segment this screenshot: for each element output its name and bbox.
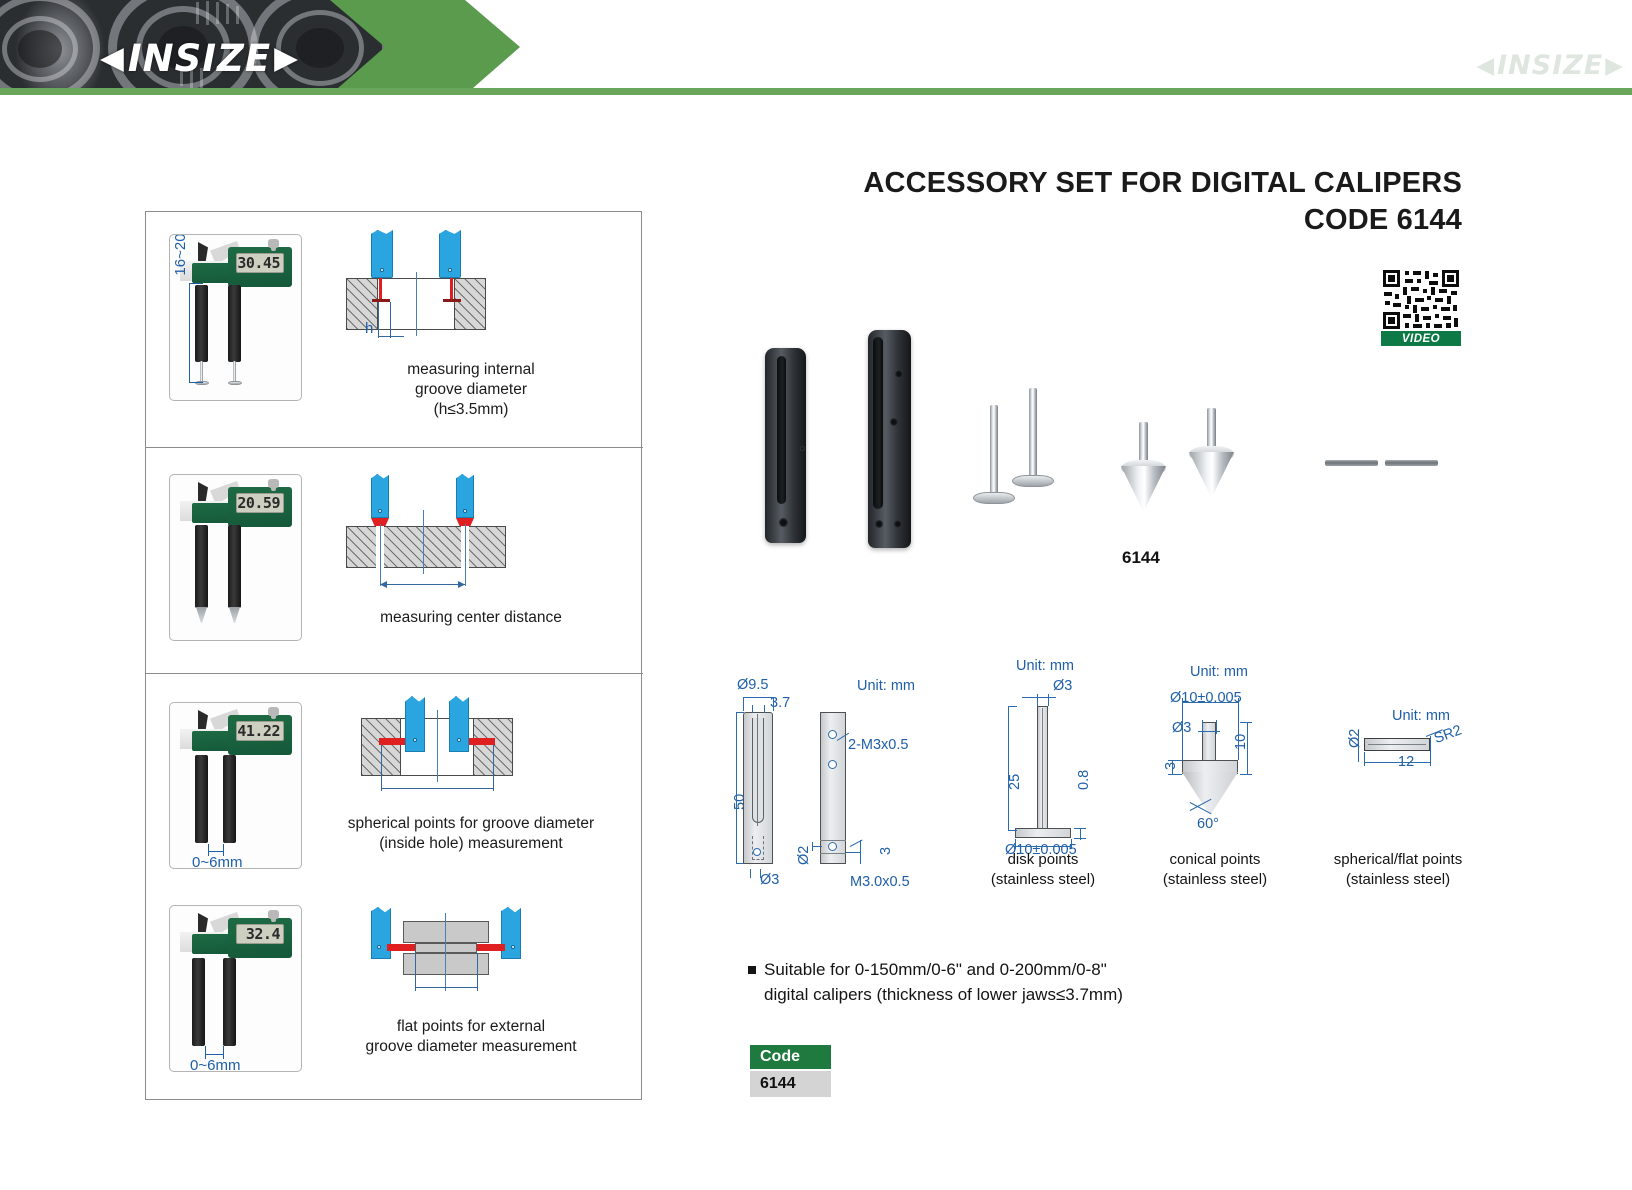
application-row-2: 20.59 measuring center distance xyxy=(146,448,643,673)
extension-bar-long xyxy=(868,330,911,548)
lcd-display-1: 30.45 xyxy=(236,253,284,273)
application-row-1: 30.45 16~20mm xyxy=(146,212,643,447)
disk-unit-label: Unit: mm xyxy=(1016,658,1074,674)
conical-caption-line1: conical points xyxy=(1152,850,1278,870)
bullet-square-icon xyxy=(748,966,756,974)
disk-shaft-dia: Ø3 xyxy=(1053,678,1072,694)
spherical-caption-line2: (stainless steel) xyxy=(1328,870,1468,890)
ext-unit-label: Unit: mm xyxy=(857,678,915,694)
ext-outer-dia: Ø9.5 xyxy=(737,677,768,693)
application-row-3: 41.22 0~6mm spherical points for groove xyxy=(146,674,643,889)
features-list: Suitable for 0-150mm/0-6" and 0-200mm/0-… xyxy=(748,958,1268,1007)
header-white-area xyxy=(520,0,1632,88)
spherical-caption-line1: spherical/flat points xyxy=(1328,850,1468,870)
caption-2: measuring center distance xyxy=(331,608,611,628)
disk-caption-line1: disk points xyxy=(982,850,1104,870)
insize-watermark-logo: ◀INSIZE▶ xyxy=(1476,50,1624,81)
code-table-header: Code xyxy=(750,1045,831,1069)
code-table-value: 6144 xyxy=(750,1071,831,1097)
feature-item: Suitable for 0-150mm/0-6" and 0-200mm/0-… xyxy=(748,958,1268,1007)
ext-bore-dia: Ø3 xyxy=(760,872,779,888)
technical-drawings: Unit: mm Ø9.5 3.7 50 Ø3 2-M3x0.5 Ø2 3 M3… xyxy=(720,650,1510,900)
application-row-4: 32.4 0~6mm flat points for external xyxy=(146,889,643,1101)
schematic-3 xyxy=(361,696,541,806)
caption-3-line2: (inside hole) measurement xyxy=(306,834,636,854)
ext-dia2: Ø2 xyxy=(796,846,812,865)
product-photo-group xyxy=(735,300,1495,580)
lcd-display-3: 41.22 xyxy=(236,721,284,741)
watermark-text: INSIZE xyxy=(1497,50,1603,81)
watermark-left-arrow-icon: ◀ xyxy=(1476,53,1495,79)
disk-length: 25 xyxy=(1007,774,1023,790)
caliper-photo-1: 30.45 16~20mm xyxy=(169,234,302,401)
spherical-unit-label: Unit: mm xyxy=(1392,708,1450,724)
dimension-label-1: 16~20mm xyxy=(172,234,189,287)
caption-3-line1: spherical points for groove diameter xyxy=(306,814,636,834)
conical-angle: 60° xyxy=(1197,816,1219,832)
schematic-2 xyxy=(346,474,546,594)
caption-2-line1: measuring center distance xyxy=(331,608,611,628)
caliper-photo-3: 41.22 0~6mm xyxy=(169,702,302,869)
caption-1-line2: groove diameter xyxy=(346,380,596,400)
page-title-line2: CODE 6144 xyxy=(863,202,1462,239)
conical-caption-line2: (stainless steel) xyxy=(1152,870,1278,890)
schematic-4 xyxy=(371,907,551,1007)
feature-line1: Suitable for 0-150mm/0-6" and 0-200mm/0-… xyxy=(764,958,1123,983)
header-green-band xyxy=(0,88,1632,95)
extension-bar-short xyxy=(765,348,806,543)
lcd-display-2: 20.59 xyxy=(236,493,284,513)
dimension-label-3: 0~6mm xyxy=(192,854,242,869)
caliper-photo-2: 20.59 xyxy=(169,474,302,641)
caliper-photo-4: 32.4 0~6mm xyxy=(169,905,302,1072)
ext-thread-side: 2-M3x0.5 xyxy=(848,737,908,753)
logo-right-arrow-icon: ▶ xyxy=(274,43,299,74)
insize-logo: ◀INSIZE▶ xyxy=(100,37,299,80)
logo-left-arrow-icon: ◀ xyxy=(100,43,125,74)
caption-3: spherical points for groove diameter (in… xyxy=(306,814,636,854)
caption-4: flat points for external groove diameter… xyxy=(336,1017,606,1057)
caption-1-line3: (h≤3.5mm) xyxy=(346,400,596,420)
conical-unit-label: Unit: mm xyxy=(1190,664,1248,680)
caption-4-line2: groove diameter measurement xyxy=(336,1037,606,1057)
spherical-radius: SR2 xyxy=(1432,722,1464,747)
disk-thickness: 0.8 xyxy=(1076,770,1092,790)
page-title: ACCESSORY SET FOR DIGITAL CALIPERS CODE … xyxy=(863,165,1462,238)
spherical-point-rod-2 xyxy=(1385,460,1438,466)
logo-text: INSIZE xyxy=(128,37,271,80)
conical-body-dia: Ø10±0.005 xyxy=(1170,690,1242,706)
schematic-1: h xyxy=(346,230,526,340)
ext-edge: 3 xyxy=(878,847,894,855)
feature-line2: digital calipers (thickness of lower jaw… xyxy=(764,983,1123,1008)
schematic-dim-h: h xyxy=(365,320,373,337)
page-header: ◀INSIZE▶ ◀INSIZE▶ xyxy=(0,0,1632,95)
page-title-line1: ACCESSORY SET FOR DIGITAL CALIPERS xyxy=(863,165,1462,202)
applications-panel: 30.45 16~20mm xyxy=(145,211,642,1100)
disk-caption-line2: (stainless steel) xyxy=(982,870,1104,890)
caption-1-line1: measuring internal xyxy=(346,360,596,380)
spherical-dia: Ø2 xyxy=(1347,729,1363,748)
lcd-display-4: 32.4 xyxy=(236,924,284,944)
ext-thread-bottom: M3.0x0.5 xyxy=(850,874,910,890)
caption-4-line1: flat points for external xyxy=(336,1017,606,1037)
conical-shoulder: 3 xyxy=(1163,762,1179,770)
watermark-right-arrow-icon: ▶ xyxy=(1605,53,1624,79)
caption-1: measuring internal groove diameter (h≤3.… xyxy=(346,360,596,420)
dimension-label-4: 0~6mm xyxy=(190,1057,240,1072)
product-code-label: 6144 xyxy=(1122,548,1160,568)
spherical-point-rod-1 xyxy=(1325,460,1378,466)
